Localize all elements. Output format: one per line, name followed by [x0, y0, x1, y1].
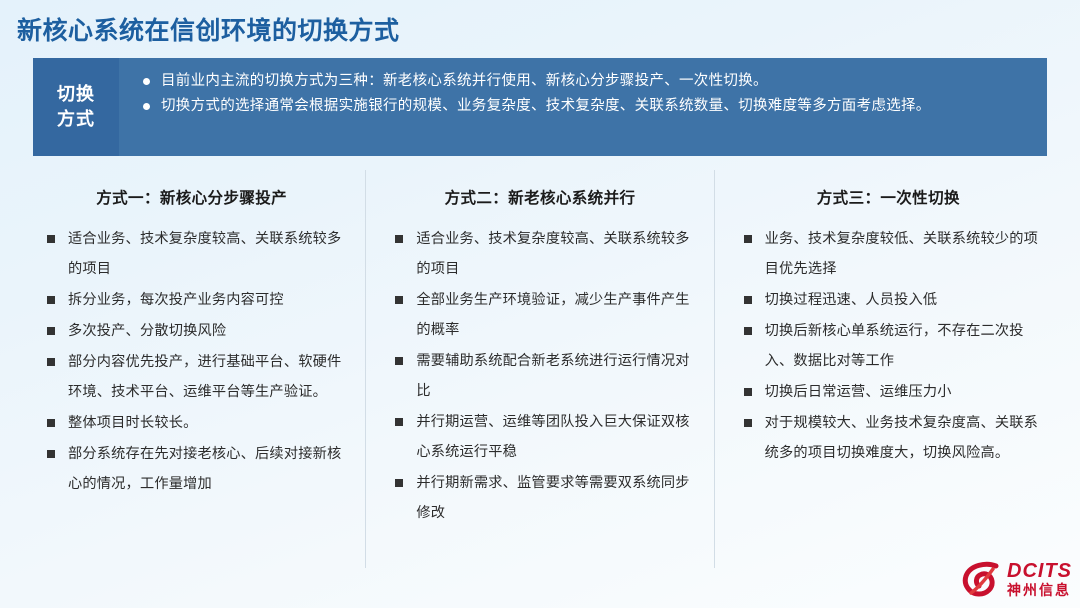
- page-title: 新核心系统在信创环境的切换方式: [17, 11, 400, 47]
- logo-name-cn: 神州信息: [1007, 583, 1072, 597]
- column-bullet-list: 适合业务、技术复杂度较高、关联系统较多的项目 拆分业务，每次投产业务内容可控 多…: [34, 224, 349, 499]
- list-item: 整体项目时长较长。: [46, 408, 349, 438]
- square-bullet-icon: [744, 419, 752, 427]
- bullet-dot-icon: [143, 103, 150, 110]
- square-bullet-icon: [47, 419, 55, 427]
- banner-bullet: 切换方式的选择通常会根据实施银行的规模、业务复杂度、技术复杂度、关联系统数量、切…: [141, 95, 1029, 117]
- switching-methods-banner: 切换 方式 目前业内主流的切换方式为三种：新老核心系统并行使用、新核心分步骤投产…: [33, 58, 1047, 156]
- list-item-text: 多次投产、分散切换风险: [68, 323, 226, 339]
- list-item: 业务、技术复杂度较低、关联系统较少的项目优先选择: [743, 224, 1046, 284]
- square-bullet-icon: [395, 479, 403, 487]
- square-bullet-icon: [47, 296, 55, 304]
- list-item-text: 需要辅助系统配合新老系统进行运行情况对比: [416, 353, 689, 399]
- list-item-text: 部分内容优先投产，进行基础平台、软硬件环境、技术平台、运维平台等生产验证。: [68, 354, 341, 400]
- bullet-dot-icon: [143, 78, 150, 85]
- list-item-text: 全部业务生产环境验证，减少生产事件产生的概率: [416, 292, 689, 338]
- list-item: 多次投产、分散切换风险: [46, 316, 349, 346]
- list-item: 全部业务生产环境验证，减少生产事件产生的概率: [394, 285, 697, 345]
- square-bullet-icon: [744, 388, 752, 396]
- list-item-text: 部分系统存在先对接老核心、后续对接新核心的情况，工作量增加: [68, 446, 341, 492]
- list-item-text: 整体项目时长较长。: [68, 415, 198, 431]
- list-item-text: 业务、技术复杂度较低、关联系统较少的项目优先选择: [765, 231, 1038, 277]
- list-item-text: 切换后新核心单系统运行，不存在二次投入、数据比对等工作: [765, 323, 1024, 369]
- column-method-one: 方式一：新核心分步骤投产 适合业务、技术复杂度较高、关联系统较多的项目 拆分业务…: [18, 170, 365, 568]
- list-item: 切换后日常运营、运维压力小: [743, 377, 1046, 407]
- company-logo: DCITS 神州信息: [962, 560, 1072, 598]
- list-item-text: 并行期新需求、监管要求等需要双系统同步修改: [416, 475, 689, 521]
- list-item-text: 切换后日常运营、运维压力小: [765, 384, 952, 400]
- logo-text: DCITS 神州信息: [1007, 561, 1072, 597]
- dcits-swirl-icon: [962, 560, 1002, 598]
- square-bullet-icon: [47, 327, 55, 335]
- list-item: 对于规模较大、业务技术复杂度高、关联系统多的项目切换难度大，切换风险高。: [743, 408, 1046, 468]
- list-item-text: 切换过程迅速、人员投入低: [765, 292, 938, 308]
- banner-body: 目前业内主流的切换方式为三种：新老核心系统并行使用、新核心分步骤投产、一次性切换…: [119, 58, 1047, 156]
- column-title: 方式三：一次性切换: [731, 186, 1046, 208]
- square-bullet-icon: [744, 235, 752, 243]
- list-item: 适合业务、技术复杂度较高、关联系统较多的项目: [394, 224, 697, 284]
- banner-bullet-text: 切换方式的选择通常会根据实施银行的规模、业务复杂度、技术复杂度、关联系统数量、切…: [161, 98, 931, 114]
- column-bullet-list: 业务、技术复杂度较低、关联系统较少的项目优先选择 切换过程迅速、人员投入低 切换…: [731, 224, 1046, 468]
- square-bullet-icon: [744, 327, 752, 335]
- square-bullet-icon: [395, 296, 403, 304]
- logo-name-en: DCITS: [1007, 561, 1072, 581]
- list-item: 部分系统存在先对接老核心、后续对接新核心的情况，工作量增加: [46, 439, 349, 499]
- banner-label-line1: 切换: [57, 82, 95, 107]
- square-bullet-icon: [47, 358, 55, 366]
- list-item: 部分内容优先投产，进行基础平台、软硬件环境、技术平台、运维平台等生产验证。: [46, 347, 349, 407]
- list-item: 并行期新需求、监管要求等需要双系统同步修改: [394, 468, 697, 528]
- banner-bullet: 目前业内主流的切换方式为三种：新老核心系统并行使用、新核心分步骤投产、一次性切换…: [141, 70, 1029, 92]
- list-item: 切换后新核心单系统运行，不存在二次投入、数据比对等工作: [743, 316, 1046, 376]
- column-title: 方式一：新核心分步骤投产: [34, 186, 349, 208]
- column-title: 方式二：新老核心系统并行: [382, 186, 697, 208]
- square-bullet-icon: [395, 235, 403, 243]
- list-item-text: 适合业务、技术复杂度较高、关联系统较多的项目: [416, 231, 689, 277]
- list-item-text: 并行期运营、运维等团队投入巨大保证双核心系统运行平稳: [416, 414, 689, 460]
- square-bullet-icon: [744, 296, 752, 304]
- square-bullet-icon: [47, 235, 55, 243]
- square-bullet-icon: [395, 418, 403, 426]
- banner-bullet-text: 目前业内主流的切换方式为三种：新老核心系统并行使用、新核心分步骤投产、一次性切换…: [161, 73, 768, 89]
- column-bullet-list: 适合业务、技术复杂度较高、关联系统较多的项目 全部业务生产环境验证，减少生产事件…: [382, 224, 697, 528]
- column-method-two: 方式二：新老核心系统并行 适合业务、技术复杂度较高、关联系统较多的项目 全部业务…: [365, 170, 713, 568]
- list-item-text: 对于规模较大、业务技术复杂度高、关联系统多的项目切换难度大，切换风险高。: [765, 415, 1038, 461]
- banner-label-line2: 方式: [57, 107, 95, 132]
- square-bullet-icon: [47, 450, 55, 458]
- column-method-three: 方式三：一次性切换 业务、技术复杂度较低、关联系统较少的项目优先选择 切换过程迅…: [714, 170, 1062, 568]
- list-item: 需要辅助系统配合新老系统进行运行情况对比: [394, 346, 697, 406]
- banner-label-box: 切换 方式: [33, 58, 119, 156]
- list-item: 并行期运营、运维等团队投入巨大保证双核心系统运行平稳: [394, 407, 697, 467]
- list-item-text: 适合业务、技术复杂度较高、关联系统较多的项目: [68, 231, 341, 277]
- list-item: 切换过程迅速、人员投入低: [743, 285, 1046, 315]
- list-item: 适合业务、技术复杂度较高、关联系统较多的项目: [46, 224, 349, 284]
- methods-columns: 方式一：新核心分步骤投产 适合业务、技术复杂度较高、关联系统较多的项目 拆分业务…: [18, 170, 1062, 568]
- square-bullet-icon: [395, 357, 403, 365]
- list-item: 拆分业务，每次投产业务内容可控: [46, 285, 349, 315]
- list-item-text: 拆分业务，每次投产业务内容可控: [68, 292, 284, 308]
